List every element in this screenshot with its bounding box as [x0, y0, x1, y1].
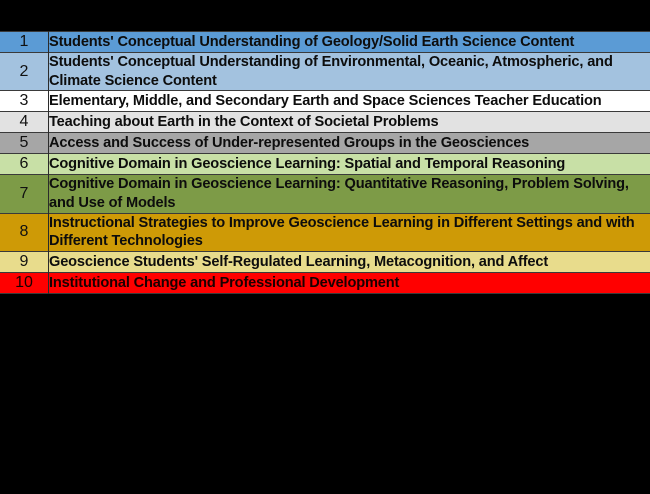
row-number-cell: 5 — [0, 133, 49, 154]
row-number-cell: 2 — [0, 53, 49, 91]
row-number-cell: 9 — [0, 252, 49, 273]
row-theme-cell: Access and Success of Under-represented … — [49, 133, 650, 154]
table-row[interactable]: 8 Instructional Strategies to Improve Ge… — [0, 213, 650, 251]
row-number-cell: 1 — [0, 32, 49, 53]
row-number-cell: 4 — [0, 112, 49, 133]
slide-canvas: 1 Students' Conceptual Understanding of … — [0, 0, 650, 494]
table-row[interactable]: 10 Institutional Change and Professional… — [0, 273, 650, 294]
row-theme-cell: Students' Conceptual Understanding of Ge… — [49, 32, 650, 53]
table-row[interactable]: 9 Geoscience Students' Self-Regulated Le… — [0, 252, 650, 273]
table-row[interactable]: 3 Elementary, Middle, and Secondary Eart… — [0, 91, 650, 112]
row-theme-cell: Cognitive Domain in Geoscience Learning:… — [49, 154, 650, 175]
row-theme-cell: Cognitive Domain in Geoscience Learning:… — [49, 175, 650, 213]
row-number-cell: 3 — [0, 91, 49, 112]
research-themes-table: 1 Students' Conceptual Understanding of … — [0, 31, 650, 294]
row-number-cell: 8 — [0, 213, 49, 251]
row-theme-cell: Students' Conceptual Understanding of En… — [49, 53, 650, 91]
table-body: 1 Students' Conceptual Understanding of … — [0, 32, 650, 294]
row-theme-cell: Instructional Strategies to Improve Geos… — [49, 213, 650, 251]
row-number-cell: 7 — [0, 175, 49, 213]
table-row[interactable]: 2 Students' Conceptual Understanding of … — [0, 53, 650, 91]
row-theme-cell: Geoscience Students' Self-Regulated Lear… — [49, 252, 650, 273]
table-row[interactable]: 7 Cognitive Domain in Geoscience Learnin… — [0, 175, 650, 213]
table-row[interactable]: 1 Students' Conceptual Understanding of … — [0, 32, 650, 53]
row-theme-cell: Teaching about Earth in the Context of S… — [49, 112, 650, 133]
table-row[interactable]: 6 Cognitive Domain in Geoscience Learnin… — [0, 154, 650, 175]
row-number-cell: 6 — [0, 154, 49, 175]
table-row[interactable]: 4 Teaching about Earth in the Context of… — [0, 112, 650, 133]
row-number-cell: 10 — [0, 273, 49, 294]
table-row[interactable]: 5 Access and Success of Under-represente… — [0, 133, 650, 154]
row-theme-cell: Elementary, Middle, and Secondary Earth … — [49, 91, 650, 112]
row-theme-cell: Institutional Change and Professional De… — [49, 273, 650, 294]
